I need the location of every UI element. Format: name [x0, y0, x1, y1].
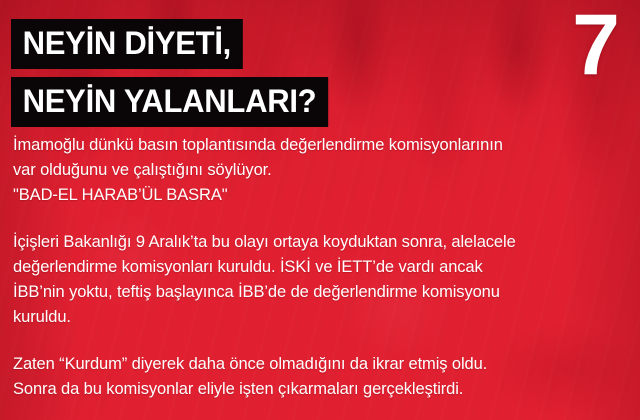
paragraph-1-line-1: İmamoğlu dünkü basın toplantısında değer… — [13, 133, 626, 158]
paragraph-3-line-1: Zaten “Kurdum” diyerek daha önce olmadığ… — [13, 352, 626, 377]
paragraph-2-line-1: İçişleri Bakanlığı 9 Aralık’ta bu olayı … — [13, 230, 626, 255]
slide-index-number: 7 — [572, 2, 618, 88]
headline-line-1: NEYİN DİYETİ, — [11, 19, 243, 69]
body-copy: İmamoğlu dünkü basın toplantısında değer… — [13, 133, 626, 402]
paragraph-2-line-3: İBB’nin yoktu, teftiş başlayınca İBB’de … — [13, 280, 626, 305]
social-media-poster: 7 NEYİN DİYETİ, NEYİN YALANLARI? İmamoğl… — [0, 0, 640, 420]
paragraph-3: Zaten “Kurdum” diyerek daha önce olmadığ… — [13, 352, 626, 402]
paragraph-1-line-3: "BAD-EL HARAB’ÜL BASRA" — [13, 183, 626, 208]
poster-content: 7 NEYİN DİYETİ, NEYİN YALANLARI? İmamoğl… — [0, 0, 640, 420]
paragraph-3-line-2: Sonra da bu komisyonlar eliyle işten çık… — [13, 377, 626, 402]
paragraph-2-line-2: değerlendirme komisyonları kuruldu. İSKİ… — [13, 255, 626, 280]
headline-block: NEYİN DİYETİ, NEYİN YALANLARI? — [11, 19, 338, 127]
headline-line-2: NEYİN YALANLARI? — [11, 77, 328, 127]
paragraph-1-line-2: var olduğunu ve çalıştığını söylüyor. — [13, 158, 626, 183]
paragraph-2-line-4: kuruldu. — [13, 305, 626, 330]
paragraph-1: İmamoğlu dünkü basın toplantısında değer… — [13, 133, 626, 208]
paragraph-2: İçişleri Bakanlığı 9 Aralık’ta bu olayı … — [13, 230, 626, 330]
